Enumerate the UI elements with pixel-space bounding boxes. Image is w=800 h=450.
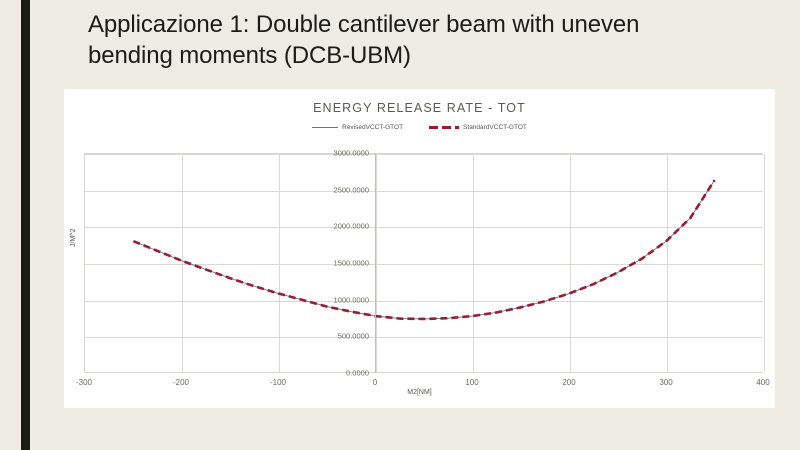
y-axis-tick-label: 500.0000 [338, 332, 369, 341]
value-axis-line [375, 153, 376, 373]
y-axis-tick-label: 2500.0000 [334, 185, 369, 194]
y-axis-tick-label: 2000.0000 [334, 222, 369, 231]
plot-series-svg [85, 154, 763, 372]
x-axis-tick-label: 200 [562, 378, 575, 387]
plot-area [84, 153, 763, 373]
x-axis-tick-label: 100 [465, 378, 478, 387]
legend-dash-swatch-icon [429, 126, 459, 130]
page-title: Applicazione 1: Double cantilever beam w… [88, 10, 728, 71]
x-axis-tick-label: -300 [76, 378, 92, 387]
legend-item-label: RevisedVCCT-GTOT [342, 124, 403, 131]
slide-left-band [0, 0, 21, 450]
legend-item-revised[interactable]: RevisedVCCT-GTOT [312, 124, 403, 131]
x-axis-tick-label: -200 [173, 378, 189, 387]
x-axis-tick-label: -100 [270, 378, 286, 387]
y-axis-tick-label: 3000.0000 [334, 149, 369, 158]
x-axis-tick-label: 0 [373, 378, 377, 387]
chart-title: ENERGY RELEASE RATE - TOT [64, 101, 775, 115]
legend-line-swatch-icon [312, 127, 338, 128]
y-axis-tick-label: 1000.0000 [334, 295, 369, 304]
slide-accent-bar [21, 0, 30, 450]
x-axis-tick-label: 400 [756, 378, 769, 387]
series-line-revised [133, 180, 714, 319]
chart-legend: RevisedVCCT-GTOT StandardVCCT-GTOT [64, 124, 775, 131]
y-axis-tick-label: 1500.0000 [334, 259, 369, 268]
y-axis-tick-label: 0.0000 [346, 369, 369, 378]
legend-item-standard[interactable]: StandardVCCT-GTOT [429, 124, 527, 131]
chart-panel: ENERGY RELEASE RATE - TOT RevisedVCCT-GT… [64, 89, 775, 408]
y-axis-title: J/M^2 [70, 229, 77, 247]
series-line-standard [133, 180, 714, 319]
x-axis-tick-label: 300 [659, 378, 672, 387]
legend-item-label: StandardVCCT-GTOT [463, 124, 527, 131]
x-axis-title: M2[NM] [64, 389, 775, 396]
gridline-vertical [764, 154, 765, 372]
